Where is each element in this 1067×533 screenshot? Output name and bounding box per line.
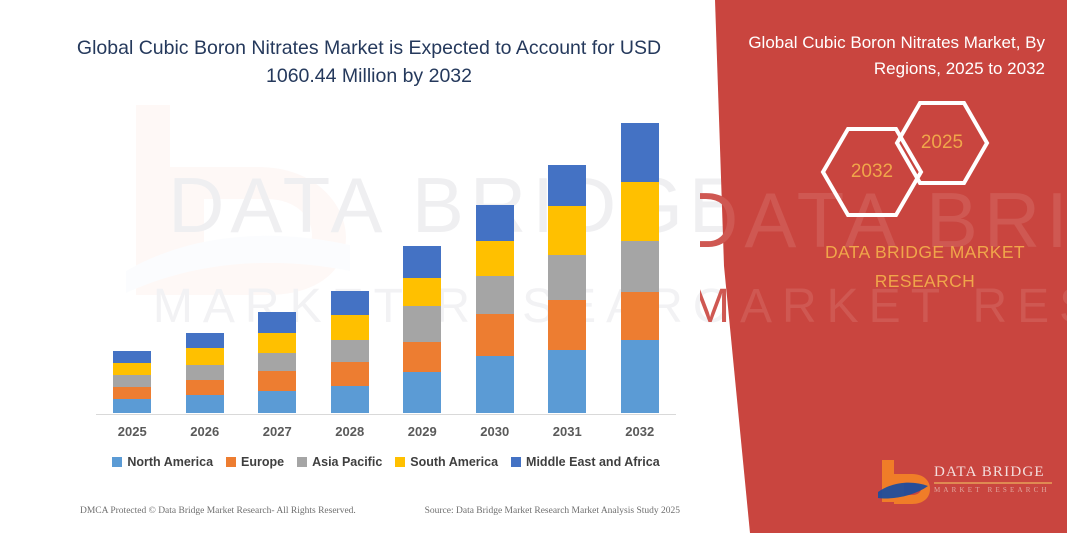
footer-copyright: DMCA Protected © Data Bridge Market Rese…: [80, 506, 356, 516]
bar-segment: [403, 246, 441, 278]
bar-segment: [113, 375, 151, 386]
bar-segment: [476, 276, 514, 314]
legend-label: Middle East and Africa: [526, 455, 660, 469]
bar-segment: [476, 314, 514, 356]
legend-label: North America: [127, 455, 213, 469]
infographic-root: DATA BRIDGE MARKET RESEARCH Global Cubic…: [0, 0, 1067, 533]
bar-segment: [621, 123, 659, 183]
bar-2029: [403, 246, 441, 413]
bar-segment: [331, 386, 369, 413]
bar-segment: [548, 255, 586, 300]
bar-segment: [621, 340, 659, 413]
bar-segment: [113, 387, 151, 400]
legend-swatch-icon: [511, 457, 521, 467]
bar-segment: [621, 292, 659, 340]
bar-segment: [186, 380, 224, 396]
bar-segment: [331, 291, 369, 315]
bar-segment: [186, 395, 224, 413]
bar-2030: [476, 205, 514, 413]
bar-segment: [186, 333, 224, 349]
bar-segment: [258, 353, 296, 371]
page-title: Global Cubic Boron Nitrates Market is Ex…: [52, 34, 686, 90]
legend-item[interactable]: South America: [395, 455, 498, 469]
x-axis-label-2031: 2031: [548, 424, 586, 439]
bar-segment: [331, 315, 369, 340]
bar-segment: [476, 356, 514, 413]
stacked-bar-chart: [96, 110, 676, 415]
x-axis-label-2027: 2027: [258, 424, 296, 439]
bar-segment: [113, 399, 151, 413]
legend-label: South America: [410, 455, 498, 469]
bar-segment: [258, 371, 296, 391]
hex-badge-2025-label: 2025: [921, 132, 963, 154]
bar-2031: [548, 165, 586, 413]
x-axis-labels: 20252026202720282029203020312032: [96, 424, 676, 439]
bar-segment: [331, 340, 369, 362]
bar-segment: [186, 348, 224, 365]
data-bridge-logo: DATA BRIDGE MARKET RESEARCH: [878, 458, 1058, 510]
hex-badge-2032: 2032: [820, 126, 924, 218]
bar-segment: [258, 391, 296, 413]
right-panel-brand-line-1: DATA BRIDGE MARKET: [790, 238, 1060, 267]
bar-segment: [548, 350, 586, 413]
legend-item[interactable]: Middle East and Africa: [511, 455, 660, 469]
bar-2026: [186, 333, 224, 413]
bar-segment: [476, 241, 514, 277]
logo-divider: [934, 482, 1052, 484]
x-axis-label-2026: 2026: [186, 424, 224, 439]
bar-segment: [476, 205, 514, 241]
bar-segment: [403, 306, 441, 342]
x-axis-line: [96, 414, 676, 415]
logo-tagline: MARKET RESEARCH: [934, 486, 1052, 495]
bar-2028: [331, 291, 369, 413]
legend-swatch-icon: [226, 457, 236, 467]
x-axis-label-2028: 2028: [331, 424, 369, 439]
bar-segment: [258, 333, 296, 354]
legend-item[interactable]: Asia Pacific: [297, 455, 382, 469]
legend-swatch-icon: [112, 457, 122, 467]
left-panel: DATA BRIDGE MARKET RESEARCH Global Cubic…: [0, 0, 735, 533]
chart-bars: [96, 110, 676, 413]
chart-legend: North AmericaEuropeAsia PacificSouth Ame…: [96, 455, 676, 469]
bar-segment: [331, 362, 369, 386]
x-axis-label-2032: 2032: [621, 424, 659, 439]
x-axis-label-2029: 2029: [403, 424, 441, 439]
hex-badge-2032-label: 2032: [851, 161, 893, 183]
bar-segment: [258, 312, 296, 333]
bar-2032: [621, 123, 659, 413]
hex-badges: 2025 2032: [820, 100, 1000, 210]
legend-swatch-icon: [297, 457, 307, 467]
bar-segment: [548, 206, 586, 255]
legend-item[interactable]: Europe: [226, 455, 284, 469]
legend-label: Asia Pacific: [312, 455, 382, 469]
logo-text: DATA BRIDGE MARKET RESEARCH: [934, 464, 1052, 495]
legend-swatch-icon: [395, 457, 405, 467]
bar-segment: [621, 182, 659, 241]
bar-segment: [548, 300, 586, 350]
bar-segment: [186, 365, 224, 380]
bar-segment: [113, 363, 151, 376]
right-panel-brand-line-2: RESEARCH: [790, 267, 1060, 296]
bar-segment: [621, 241, 659, 292]
legend-label: Europe: [241, 455, 284, 469]
bar-2027: [258, 312, 296, 413]
right-panel-brand: DATA BRIDGE MARKET RESEARCH: [790, 238, 1060, 296]
x-axis-label-2025: 2025: [113, 424, 151, 439]
x-axis-label-2030: 2030: [476, 424, 514, 439]
logo-name: DATA BRIDGE: [934, 464, 1052, 481]
bar-segment: [113, 351, 151, 362]
logo-mark-icon: [878, 458, 932, 508]
bar-segment: [548, 165, 586, 206]
bar-segment: [403, 342, 441, 372]
legend-item[interactable]: North America: [112, 455, 213, 469]
footer-source: Source: Data Bridge Market Research Mark…: [425, 506, 680, 516]
right-panel-title: Global Cubic Boron Nitrates Market, By R…: [745, 30, 1045, 82]
bar-segment: [403, 372, 441, 413]
bar-2025: [113, 351, 151, 413]
bar-segment: [403, 278, 441, 306]
footer: DMCA Protected © Data Bridge Market Rese…: [80, 506, 680, 516]
